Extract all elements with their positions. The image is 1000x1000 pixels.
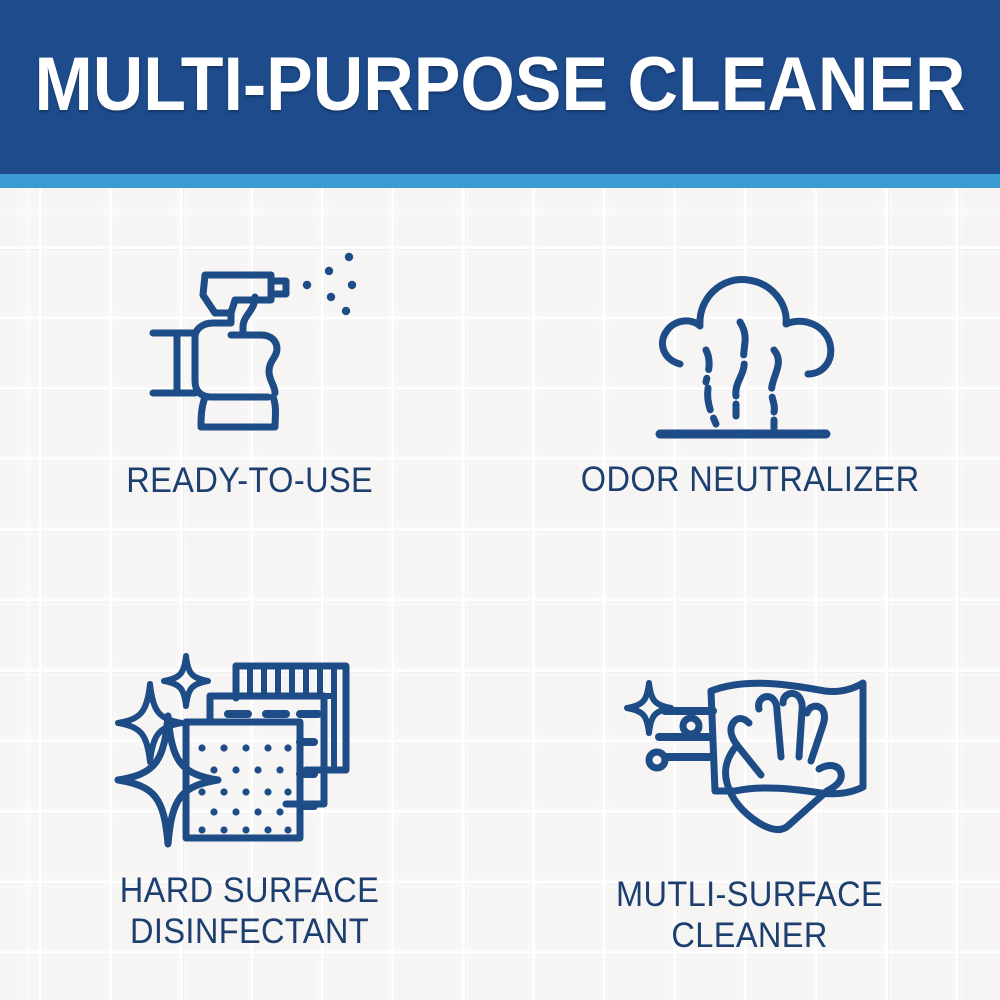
page-title: MULTI-PURPOSE CLEANER [35, 47, 966, 127]
hand-wiping-cloth-icon [635, 660, 865, 860]
feature-multi-surface-cleaner: MUTLI-SURFACE CLEANER [500, 594, 1000, 1000]
feature-label-multi-surface-cleaner: MUTLI-SURFACE CLEANER [616, 874, 883, 957]
feature-label-odor-neutralizer: ODOR NEUTRALIZER [581, 459, 920, 500]
feature-grid: READY-TO-USE [0, 188, 1000, 1000]
stacked-sponges-sparkle-icon [135, 652, 365, 852]
feature-hard-surface-disinfectant: HARD SURFACE DISINFECTANT [0, 594, 500, 1000]
feature-label-ready-to-use: READY-TO-USE [127, 460, 374, 501]
feature-odor-neutralizer: ODOR NEUTRALIZER [500, 188, 1000, 594]
odor-cloud-icon [635, 260, 865, 445]
spray-bottle-icon [135, 240, 365, 440]
feature-ready-to-use: READY-TO-USE [0, 188, 500, 594]
accent-strip [0, 174, 1000, 188]
feature-label-hard-surface-disinfectant: HARD SURFACE DISINFECTANT [120, 870, 379, 953]
header-banner: MULTI-PURPOSE CLEANER [0, 0, 1000, 174]
product-feature-infographic: MULTI-PURPOSE CLEANER [0, 0, 1000, 1000]
